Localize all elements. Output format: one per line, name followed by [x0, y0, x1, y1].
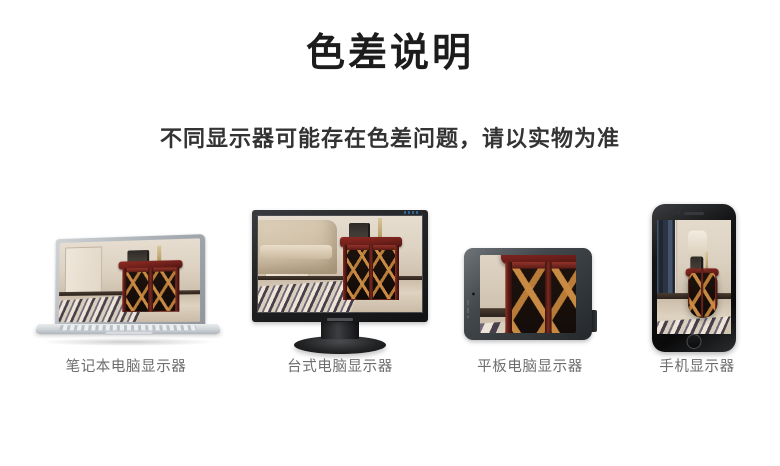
photo-table-post-right [395, 245, 399, 300]
photo-table-post-right [175, 267, 179, 312]
tablet-icon [464, 248, 592, 340]
tablet-front-camera-icon [471, 292, 476, 297]
smartphone-icon [652, 204, 736, 352]
photo-sofa [258, 220, 337, 274]
device-cell-tablet: 平板电脑显示器 [452, 194, 608, 400]
device-cell-phone: 手机显示器 [622, 194, 772, 400]
laptop-icon [38, 236, 218, 348]
photo-table-post-middle [545, 261, 552, 333]
photo-table-post-right [715, 269, 717, 318]
laptop-keyboard [60, 325, 197, 330]
phone-home-button [687, 334, 702, 349]
photo-wall-panel [64, 246, 102, 293]
laptop-screen-photo [59, 238, 200, 322]
photo-lattice-side-table [122, 260, 179, 312]
device-label-tablet: 平板电脑显示器 [452, 355, 608, 376]
phone-screen [657, 220, 731, 334]
phone-illustration-stage: 手机显示器 [622, 194, 772, 374]
photo-lattice-side-table [687, 269, 717, 325]
photo-table-post-left [122, 268, 126, 312]
photo-lattice-side-table [343, 237, 399, 300]
monitor-bezel [252, 210, 428, 322]
device-cell-desktop: 台式电脑显示器 [244, 194, 436, 400]
tablet-bezel [464, 248, 592, 340]
phone-body [652, 204, 736, 352]
laptop-shadow [42, 338, 214, 346]
monitor-indicator-leds [404, 211, 420, 214]
photo-table-body [506, 261, 576, 333]
device-label-laptop: 笔记本电脑显示器 [16, 355, 236, 376]
photo-lattice-side-table [506, 255, 576, 333]
laptop-illustration-stage: 笔记本电脑显示器 [16, 194, 236, 374]
tablet-side-buttons [467, 300, 469, 318]
laptop-lid [55, 234, 205, 328]
laptop-base [34, 324, 221, 334]
phone-earpiece-speaker [684, 212, 704, 215]
photo-table-post-middle [701, 269, 703, 318]
photo-table-post-middle [148, 268, 153, 312]
desktop-screen-photo [258, 216, 422, 312]
photo-table-post-middle [369, 245, 373, 300]
device-label-phone: 手机显示器 [622, 355, 772, 376]
photo-candle [157, 246, 161, 262]
tablet-illustration-stage: 平板电脑显示器 [452, 194, 608, 374]
monitor-neck [321, 320, 359, 339]
photo-candle [378, 218, 382, 238]
page-title: 色差说明 [0, 32, 780, 77]
photo-table-lattice [509, 267, 576, 333]
monitor-brand-mark [327, 318, 353, 321]
photo-table-body [343, 245, 399, 300]
photo-table-body [687, 269, 717, 318]
tablet-screen-photo [480, 255, 576, 333]
desktop-monitor-icon [252, 210, 428, 350]
desktop-screen [257, 215, 423, 313]
device-cell-laptop: 笔记本电脑显示器 [16, 194, 236, 400]
phone-front-camera-icon [677, 211, 680, 214]
photo-candle [706, 252, 708, 270]
color-difference-notice-page: 色差说明 不同显示器可能存在色差问题，请以实物为准 [0, 0, 780, 466]
photo-table-post-left [506, 261, 512, 333]
device-label-desktop: 台式电脑显示器 [244, 355, 436, 376]
photo-table-post-left [687, 269, 689, 318]
photo-table-body [122, 267, 179, 312]
photo-table-post-left [343, 245, 347, 300]
tablet-screen [480, 255, 576, 333]
laptop-screen [59, 238, 200, 322]
page-subtitle: 不同显示器可能存在色差问题，请以实物为准 [0, 126, 780, 152]
desktop-illustration-stage: 台式电脑显示器 [244, 194, 436, 374]
device-comparison-row: 笔记本电脑显示器 [0, 190, 780, 400]
photo-lamp [687, 231, 706, 258]
photo-table-apron [506, 261, 576, 269]
laptop-trackpad [105, 331, 152, 335]
phone-screen-photo [657, 220, 731, 334]
